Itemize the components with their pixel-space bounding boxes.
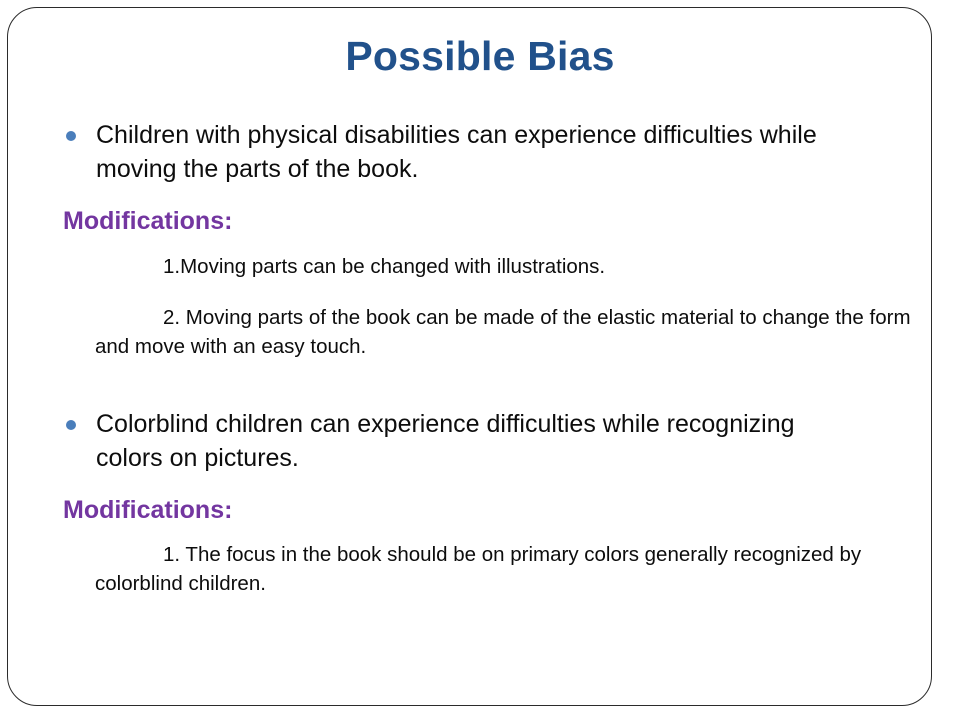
spacer (0, 281, 960, 303)
spacer (0, 192, 960, 204)
spacer (0, 481, 960, 493)
numbered-sub-item: 2. Moving parts of the book can be made … (95, 303, 920, 361)
spacer (0, 528, 960, 540)
bullet-item: Children with physical disabilities can … (0, 118, 960, 186)
slide-body-content: Children with physical disabilities can … (0, 118, 960, 599)
slide-title: Possible Bias (0, 34, 960, 80)
bullet-item-text: Children with physical disabilities can … (96, 118, 840, 186)
bullet-dot-icon (66, 420, 76, 430)
numbered-sub-item: 1. The focus in the book should be on pr… (95, 540, 920, 598)
slide-root: Possible Bias Children with physical dis… (0, 0, 960, 720)
bullet-item: Colorblind children can experience diffi… (0, 407, 960, 475)
modifications-heading: Modifications: (63, 204, 960, 240)
slide-content-area: Possible Bias Children with physical dis… (0, 0, 960, 720)
spacer (0, 240, 960, 252)
bullet-item-text: Colorblind children can experience diffi… (96, 407, 840, 475)
bullet-dot-icon (66, 131, 76, 141)
numbered-sub-item: 1.Moving parts can be changed with illus… (95, 252, 920, 281)
slide-title-text: Possible Bias (345, 33, 614, 79)
spacer (0, 361, 960, 407)
modifications-heading: Modifications: (63, 493, 960, 529)
